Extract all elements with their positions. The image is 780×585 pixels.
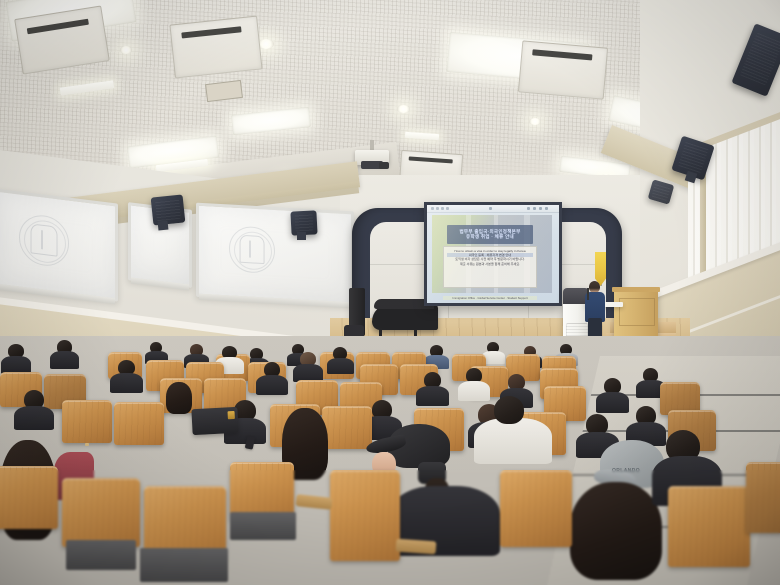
seat-cushion — [140, 548, 228, 582]
seat[interactable] — [500, 470, 572, 547]
screen-glare — [427, 205, 559, 303]
presenter-legs — [588, 318, 602, 338]
audience-long-hair — [570, 482, 662, 580]
seat-cushion — [66, 540, 136, 570]
audience-shoulders — [474, 418, 552, 464]
auditorium-photo: 법무부 출입국·외국인정책본부 유학생 취업 · 체류 안내 How to ob… — [0, 0, 780, 585]
speaker-bracket — [158, 221, 169, 231]
seat[interactable] — [62, 400, 112, 443]
audience-shoulders — [596, 392, 629, 413]
audience-shoulders — [327, 358, 354, 374]
seat[interactable] — [322, 406, 372, 449]
university-seal-emblem — [229, 225, 275, 274]
downlight — [120, 46, 132, 54]
audience-head — [494, 396, 524, 424]
wall-speaker — [151, 194, 186, 225]
audience-long-hair — [166, 382, 192, 414]
seat[interactable] — [668, 486, 750, 567]
seat[interactable] — [114, 402, 164, 445]
whiteboard-center — [196, 203, 354, 306]
projection-screen: 법무부 출입국·외국인정책본부 유학생 취업 · 체류 안내 How to ob… — [427, 205, 559, 303]
seat-cushion — [230, 512, 296, 540]
audience-shoulders — [416, 386, 449, 406]
downlight — [397, 105, 410, 113]
audience-shoulders — [458, 381, 490, 401]
audience-shoulders — [50, 351, 79, 369]
seat[interactable] — [62, 478, 140, 547]
grey-cap-label: ORLANDO — [612, 468, 640, 474]
ac-diffuser — [518, 40, 608, 99]
handbag-buckle — [228, 411, 235, 419]
podium-top — [612, 287, 660, 292]
speaker-bracket — [297, 232, 306, 240]
projection-screen-frame: 법무부 출입국·외국인정책본부 유학생 취업 · 체류 안내 How to ob… — [424, 202, 562, 306]
downlight — [529, 118, 541, 125]
whiteboard-left — [0, 188, 118, 301]
audience-shoulders — [110, 373, 143, 393]
university-seal-emblem — [19, 212, 69, 268]
microphone — [587, 288, 589, 300]
seat[interactable] — [0, 466, 58, 529]
seat[interactable] — [746, 462, 780, 533]
armrest — [396, 539, 437, 555]
projector-lens — [379, 162, 389, 169]
handbag — [191, 407, 238, 435]
ac-diffuser — [169, 16, 262, 79]
seat[interactable] — [330, 470, 400, 561]
podium — [614, 290, 658, 336]
audience-shoulders — [256, 375, 288, 395]
audience-shoulders — [14, 406, 54, 430]
